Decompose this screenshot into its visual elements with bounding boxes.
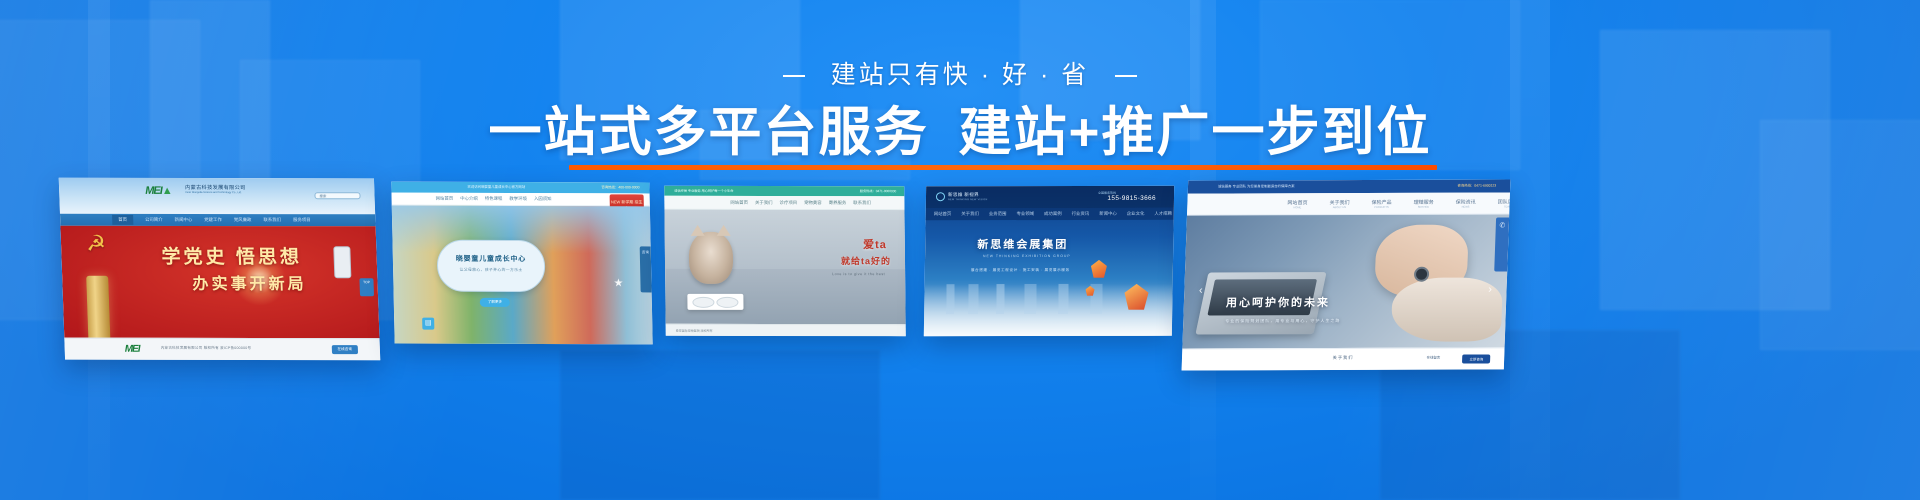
site-header: MEI▲ 内蒙古科技发展有限公司Inner Mongolia Science a… (59, 178, 375, 215)
logo-name: 新思维 新视界NEW THINKING NEW VISION (948, 192, 988, 201)
company-en: Inner Mongolia Science and Technology Co… (185, 191, 246, 194)
hero-title-en: NEW THINKING EXHIBITION GROUP (983, 254, 1071, 258)
topbar-text: 诚信服务 专业团队 为您量身定制最适合的保障方案 (1218, 184, 1295, 188)
hero-sub: 专业的保险规划团队，用专业与用心，守护人生之路 (1225, 318, 1340, 324)
nav-item[interactable]: 新闻中心 (175, 217, 193, 223)
site-nav[interactable]: 网站首页HOME 关于我们ABOUT US 保险产品PRODUCTS 理赔服务S… (1187, 192, 1510, 215)
consult-sidebar[interactable]: 咨询 (640, 246, 652, 292)
topbar-phone: 咨询热线：0471-6900123 (1457, 180, 1496, 193)
hero-line-1: 学党史 悟思想 (161, 242, 302, 269)
nav-item[interactable]: 公司简介 (145, 217, 163, 223)
hero-title: 新思维会展集团 (977, 236, 1068, 252)
hero-photo: 爱ta 就给ta好的 Love is to give it the best (664, 210, 905, 324)
nav-item[interactable]: 联系我们 (263, 217, 281, 223)
site-nav[interactable]: 网站首页 关于我们 业务范围 专业领域 成功案例 行业资讯 新闻中心 企业文化 … (926, 208, 1174, 220)
nav-item-cn: 网站首页 (1287, 200, 1307, 206)
nav-item[interactable]: 企业文化 (1127, 211, 1145, 217)
nav-item[interactable]: 行业资讯 (1072, 211, 1090, 217)
footer-text: 内蒙古科技发展有限公司 版权所有 蒙ICP备000000号 (161, 346, 252, 351)
nav-item[interactable]: 网站首页 (436, 196, 454, 202)
site-footer: 爱宠国际宠物医院 版权所有 (666, 324, 906, 336)
cat-photo (689, 232, 734, 284)
star-icon: ★ (613, 276, 623, 289)
phone-number: 155-9815-3666 (1107, 195, 1156, 202)
showcase-card-kindergarten-site[interactable]: 欢迎访问晓婴童儿童成长中心官方网站 咨询热线：400-000-0000 网站首页… (391, 182, 652, 345)
hero-line-2: 办实事开新局 (192, 270, 307, 294)
nav-item[interactable]: 网站首页HOME (1287, 199, 1307, 209)
showcase-card-party-site[interactable]: MEI▲ 内蒙古科技发展有限公司Inner Mongolia Science a… (59, 178, 381, 360)
hero-sub: Love is to give it the best (832, 272, 885, 276)
back-to-top-button[interactable]: TOP (359, 278, 374, 296)
nav-item[interactable]: 首页 (112, 215, 133, 225)
logo-en: NEW THINKING NEW VISION (948, 198, 988, 201)
nav-item[interactable]: 服务项目 (293, 217, 311, 223)
search-input[interactable]: 搜索 (314, 192, 360, 199)
nav-item[interactable]: 团队风采TEAM (1498, 198, 1510, 208)
headline-part-right: 建站+推广一步到位 (959, 103, 1432, 162)
pet-bowls-graphic (687, 294, 743, 310)
nav-item[interactable]: 新闻中心 (1099, 211, 1117, 217)
nav-item[interactable]: 业务范围 (989, 211, 1007, 217)
nav-item-en: NEWS (1455, 205, 1475, 208)
logo-mark-icon (936, 192, 945, 201)
topbar-text: 欢迎访问晓婴童儿童成长中心官方网站 (467, 185, 525, 189)
monument-graphic (86, 276, 110, 338)
hero-bubble: 晓婴童儿童成长中心 让父母放心，孩子开心的一方乐土 (436, 240, 545, 292)
nav-item[interactable]: 网站首页 (730, 199, 748, 205)
footer-logo: MEI (125, 344, 140, 355)
hero-title: 用心呵护你的未来 (1226, 294, 1331, 310)
site-company-name: 内蒙古科技发展有限公司Inner Mongolia Science and Te… (185, 184, 246, 194)
site-footer: 关于我们 在线留言 立即咨询 (1182, 347, 1505, 370)
kicker-text: 建站只有快 · 好 · 省 (831, 61, 1089, 89)
nav-item-en: ABOUT US (1329, 206, 1349, 209)
nav-item[interactable]: 保险产品PRODUCTS (1371, 198, 1391, 208)
nav-item[interactable]: 教学环境 (509, 196, 527, 202)
nav-item[interactable]: 关于我们 (755, 199, 773, 205)
nav-item[interactable]: 网站首页 (934, 211, 952, 217)
nav-item-cn: 理赔服务 (1414, 199, 1434, 205)
showcase-card-pet-site[interactable]: 诚信经营 专业服务 用心呵护每一个小生命 服务热线：0471-0000000 爱… (664, 186, 906, 336)
cart-icon[interactable]: ▤ (422, 318, 434, 330)
nav-item[interactable]: 人才招聘 (1154, 211, 1172, 217)
banner-headline-wrap: 一站式多平台服务建站+推广一步到位 (0, 104, 1920, 172)
phone-mockup-graphic (333, 246, 351, 278)
banner-kicker: 建站只有快 · 好 · 省 (0, 55, 1920, 91)
banner-headline: 一站式多平台服务建站+推广一步到位 (485, 104, 1436, 172)
site-logo: MEI▲ (145, 185, 172, 197)
kicker-dash-left (783, 75, 805, 77)
site-logo: 新思维 新视界NEW THINKING NEW VISION (936, 192, 988, 201)
nav-item-en: SERVICE (1413, 205, 1433, 208)
site-hero: ☭ 学党史 悟思想 办实事开新局 TOP (60, 226, 379, 338)
nav-item[interactable]: 特色课程 (485, 196, 503, 202)
nav-item[interactable]: 关于我们 (961, 211, 979, 217)
card-screenshot: 新思维 新视界NEW THINKING NEW VISION 全国服务热线 15… (924, 186, 1174, 336)
website-showcase-row: MEI▲ 内蒙古科技发展有限公司Inner Mongolia Science a… (0, 168, 1920, 378)
nav-item[interactable]: 专业领域 (1016, 211, 1034, 217)
site-topbar: 诚信服务 专业团队 为您量身定制最适合的保障方案 咨询热线：0471-69001… (1188, 179, 1511, 193)
nav-item-en: HOME (1287, 206, 1307, 209)
site-topbar: 诚信经营 专业服务 用心呵护每一个小生命 服务热线：0471-0000000 (664, 186, 904, 196)
chevron-right-icon[interactable]: › (1483, 284, 1496, 297)
headline-part-left: 一站式多平台服务 (489, 103, 929, 162)
chevron-left-icon[interactable]: ‹ (1194, 285, 1207, 298)
site-nav[interactable]: 首页 公司简介 新闻中心 党建工作 党风廉政 联系我们 服务项目 (60, 214, 376, 227)
kicker-dash-right (1115, 75, 1137, 77)
learn-more-button[interactable]: 了解更多 (480, 298, 511, 307)
hero-line-1: 爱ta (863, 236, 887, 252)
bubble-sub: 让父母放心，孩子开心的一方乐土 (438, 268, 544, 273)
nav-item[interactable]: 理赔服务SERVICE (1413, 198, 1433, 208)
nav-item[interactable]: 寄养服务 (829, 200, 847, 206)
topbar-text: 诚信经营 专业服务 用心呵护每一个小生命 (674, 189, 733, 193)
phone-sidebar[interactable]: ✆ (1494, 217, 1509, 271)
card-screenshot: 欢迎访问晓婴童儿童成长中心官方网站 咨询热线：400-000-0000 网站首页… (391, 182, 652, 345)
card-screenshot: 诚信经营 专业服务 用心呵护每一个小生命 服务热线：0471-0000000 爱… (664, 186, 906, 336)
topbar-phone: 咨询热线：400-000-0000 (601, 182, 639, 193)
footer-link[interactable]: 在线留言 (1427, 355, 1441, 360)
nav-item-cn: 保险资讯 (1456, 199, 1476, 205)
footer-center-text: 关于我们 (1333, 355, 1354, 361)
nav-item[interactable]: 入园须知 (534, 196, 552, 202)
footer-consult-button[interactable]: 立即咨询 (1462, 354, 1490, 363)
nav-item[interactable]: 成功案例 (1044, 211, 1062, 217)
nav-item[interactable]: 中心介绍 (460, 196, 478, 202)
site-topbar: 欢迎访问晓婴童儿童成长中心官方网站 咨询热线：400-000-0000 (391, 182, 649, 194)
card-screenshot: 诚信服务 专业团队 为您量身定制最适合的保障方案 咨询热线：0471-69001… (1182, 179, 1511, 370)
site-footer: MEI 内蒙古科技发展有限公司 版权所有 蒙ICP备000000号 在线咨询 (64, 338, 380, 361)
bubble-title: 晓婴童儿童成长中心 (438, 254, 544, 264)
showcase-card-insurance-site[interactable]: 诚信服务 专业团队 为您量身定制最适合的保障方案 咨询热线：0471-69001… (1182, 179, 1511, 370)
hero-photo: 晓婴童儿童成长中心 让父母放心，孩子开心的一方乐土 了解更多 ★ ▤ 咨询 (392, 206, 653, 345)
logo-cn: 新思维 新视界 (948, 192, 979, 197)
nav-item-cn: 团队风采 (1498, 199, 1510, 205)
hammer-sickle-icon: ☭ (83, 232, 110, 256)
site-nav[interactable]: 网站首页 关于我们 诊疗项目 宠物美容 寄养服务 联系我们 (664, 196, 904, 210)
nav-item[interactable]: 保险资讯NEWS (1455, 198, 1475, 208)
hero-photo: 用心呵护你的未来 专业的保险规划团队，用专业与用心，守护人生之路 ‹ › (1182, 214, 1509, 348)
topbar-phone: 服务热线：0471-0000000 (860, 186, 897, 196)
nav-item-en: TEAM (1498, 205, 1510, 208)
logo-mark: ▲ (162, 185, 172, 197)
card-screenshot: MEI▲ 内蒙古科技发展有限公司Inner Mongolia Science a… (59, 178, 381, 360)
nav-item[interactable]: 联系我们 (853, 200, 871, 206)
promo-banner: 建站只有快 · 好 · 省 一站式多平台服务建站+推广一步到位 MEI▲ 内蒙古… (0, 0, 1920, 500)
nav-item-cn: 保险产品 (1371, 199, 1391, 205)
nav-item[interactable]: 诊疗项目 (780, 199, 798, 205)
nav-item[interactable]: 党风廉政 (234, 217, 252, 223)
nav-item[interactable]: 关于我们ABOUT US (1329, 199, 1349, 209)
nav-item[interactable]: 党建工作 (204, 217, 222, 223)
showcase-card-exhibition-site[interactable]: 新思维 新视界NEW THINKING NEW VISION 全国服务热线 15… (924, 186, 1174, 336)
nav-item-en: PRODUCTS (1371, 205, 1391, 208)
nav-item[interactable]: 宠物美容 (804, 200, 822, 206)
hero-line-2: 就给ta好的 (841, 254, 891, 267)
site-header: 新思维 新视界NEW THINKING NEW VISION 全国服务热线 15… (926, 186, 1174, 208)
logo-text: MEI (145, 185, 162, 197)
nav-item-cn: 关于我们 (1329, 200, 1349, 206)
footer-consult-button[interactable]: 在线咨询 (331, 345, 358, 354)
hero-sub: 展台搭建 · 展览工程设计 · 施工安装 · 展览展示服务 (971, 268, 1070, 273)
